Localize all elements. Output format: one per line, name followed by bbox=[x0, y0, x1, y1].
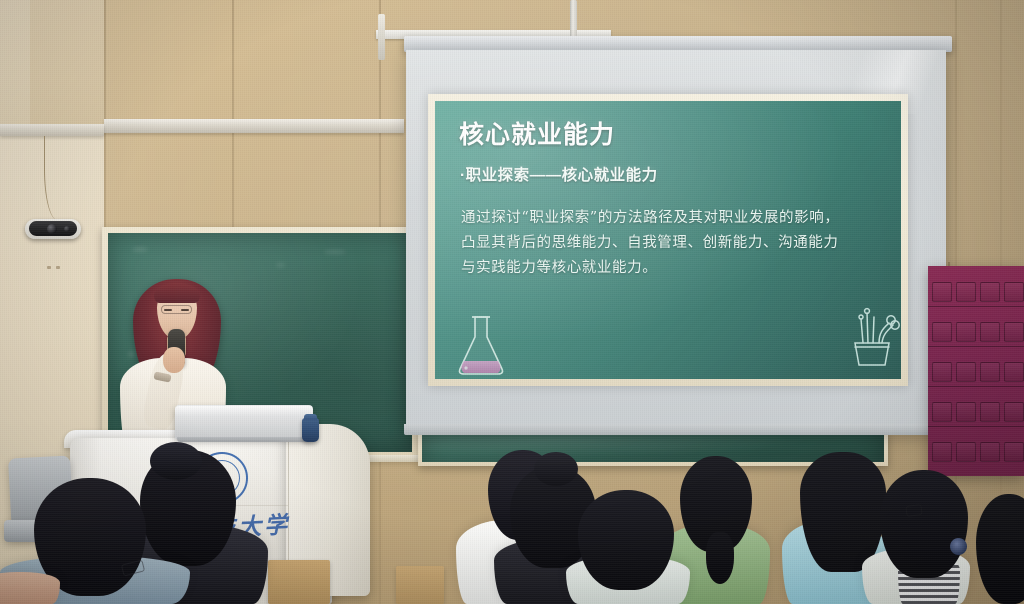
slide-body-text: 通过探讨“职业探索”的方法路径及其对职业发展的影响， 凸显其背后的思维能力、自我… bbox=[461, 206, 839, 281]
organizer-pocket bbox=[956, 282, 976, 302]
laptop-hinge bbox=[177, 437, 311, 442]
student-hair-bun bbox=[534, 452, 578, 486]
wall-outlet-dot-left bbox=[47, 266, 51, 269]
organizer-pocket bbox=[932, 282, 952, 302]
presenter-hand bbox=[163, 347, 185, 373]
blackboard-right-surface bbox=[422, 434, 884, 462]
chalk-smudge-2 bbox=[276, 263, 285, 267]
organizer-pocket bbox=[932, 402, 952, 422]
projection-screen-weight-bar bbox=[404, 424, 948, 435]
presenter-eye-left bbox=[164, 309, 172, 311]
organizer-pocket bbox=[956, 322, 976, 342]
student-ponytail bbox=[706, 532, 734, 584]
flask-icon bbox=[451, 311, 511, 379]
organizer-pocket bbox=[1004, 402, 1024, 422]
organizer-pocket bbox=[956, 442, 976, 462]
presenter-hair-front bbox=[154, 283, 200, 303]
hair-scrunchie bbox=[950, 538, 967, 555]
pencil-cup-icon-svg bbox=[841, 303, 901, 379]
slide-content: 核心就业能力 ·职业探索——核心就业能力 通过探讨“职业探索”的方法路径及其对职… bbox=[435, 101, 901, 379]
organizer-pocket bbox=[1004, 362, 1024, 382]
chalk-smudge-1 bbox=[132, 247, 148, 252]
organizer-row-3 bbox=[928, 386, 1024, 387]
chalk-smudge-4 bbox=[128, 351, 135, 357]
wall-outlet-dot-right bbox=[56, 266, 60, 269]
desk-row-right bbox=[268, 560, 330, 604]
slide-title: 核心就业能力 bbox=[459, 115, 615, 151]
slide-frame: 核心就业能力 ·职业探索——核心就业能力 通过探讨“职业探索”的方法路径及其对职… bbox=[428, 94, 908, 386]
lecture-hall-photo: 核心就业能力 ·职业探索——核心就业能力 通过探讨“职业探索”的方法路径及其对职… bbox=[0, 0, 1024, 604]
organizer-pocket bbox=[1004, 282, 1024, 302]
student-hair-bun bbox=[150, 442, 202, 480]
organizer-pocket bbox=[932, 362, 952, 382]
organizer-pocket bbox=[1004, 442, 1024, 462]
organizer-row-1 bbox=[928, 306, 1024, 307]
slide-body-line-1: 通过探讨“职业探索”的方法路径及其对职业发展的影响， bbox=[461, 206, 839, 231]
laptop-icon bbox=[175, 405, 313, 439]
slide-body-line-2: 凸显其背后的思维能力、自我管理、创新能力、沟通能力 bbox=[461, 231, 839, 256]
water-bottle-cap bbox=[304, 414, 317, 420]
wall-trim-rail-left bbox=[0, 124, 104, 136]
slide-subtitle: ·职业探索——核心就业能力 bbox=[460, 163, 658, 185]
organizer-pocket bbox=[980, 402, 1000, 422]
wall-panel-left-upper bbox=[0, 0, 104, 130]
ceiling-bracket-hook bbox=[378, 14, 385, 60]
presenter-eye-right bbox=[181, 309, 189, 311]
organizer-pocket bbox=[980, 362, 1000, 382]
pencil-cup-icon bbox=[841, 303, 901, 379]
wall-camera-lens-small bbox=[64, 226, 70, 232]
organizer-pocket bbox=[932, 442, 952, 462]
desk-strip-center bbox=[396, 566, 444, 604]
slide-body-line-3: 与实践能力等核心就业能力。 bbox=[461, 256, 839, 281]
organizer-row-4 bbox=[928, 426, 1024, 427]
organizer-pocket bbox=[1004, 322, 1024, 342]
student-head bbox=[880, 470, 968, 578]
water-bottle-icon bbox=[302, 418, 319, 442]
wall-camera-lens bbox=[47, 224, 57, 234]
organizer-pocket bbox=[980, 282, 1000, 302]
wall-pocket-organizer bbox=[928, 266, 1024, 476]
organizer-pocket bbox=[980, 442, 1000, 462]
organizer-row-2 bbox=[928, 346, 1024, 347]
student-body bbox=[0, 572, 60, 604]
organizer-pocket bbox=[956, 362, 976, 382]
organizer-pocket bbox=[980, 322, 1000, 342]
wall-trim-rail-upper bbox=[104, 119, 404, 133]
organizer-pocket bbox=[932, 322, 952, 342]
chalk-smudge-3 bbox=[324, 250, 346, 254]
student-head bbox=[578, 490, 674, 590]
flask-icon-svg bbox=[451, 311, 511, 379]
student-glasses bbox=[905, 504, 922, 517]
organizer-pocket bbox=[956, 402, 976, 422]
